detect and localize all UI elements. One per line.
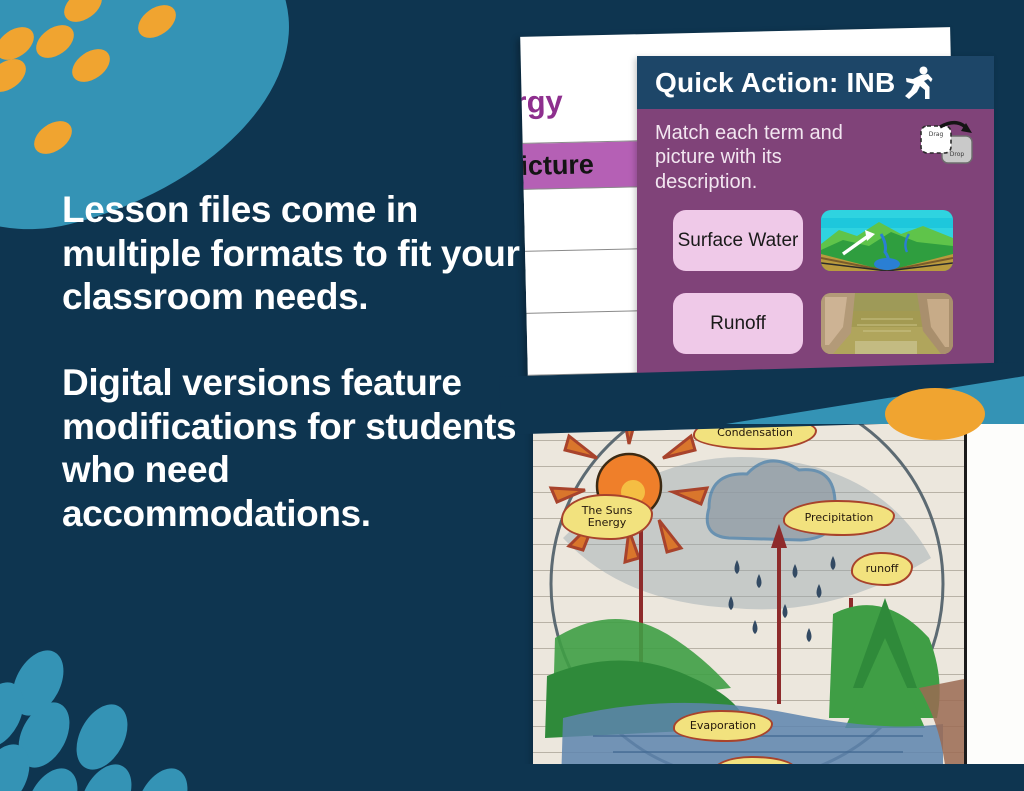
match-row: Runoff xyxy=(673,293,978,354)
quick-action-body: Match each term and picture with its des… xyxy=(637,109,994,354)
teal-dot xyxy=(66,696,138,778)
slide-copy: Lesson files come in multiple formats to… xyxy=(62,188,532,536)
navy-bottom-strip xyxy=(498,764,1024,791)
quick-action-instruction: Match each term and picture with its des… xyxy=(655,121,885,194)
notebook-photo: The Suns Energy Condensation Precipitati… xyxy=(533,388,1024,788)
water-cycle-label-evaporation: Evaporation xyxy=(673,710,773,742)
copy-paragraph-2: Digital versions feature modifications f… xyxy=(62,361,532,536)
orange-dot xyxy=(885,388,985,440)
drag-drop-icon: Drop Drag xyxy=(916,117,978,169)
quick-action-title: Quick Action: INB xyxy=(655,67,895,99)
notebook-facing-page xyxy=(967,388,1024,788)
term-pill-surface-water[interactable]: Surface Water xyxy=(673,210,803,271)
muddy-water-channel-photo-icon xyxy=(821,293,953,354)
water-cycle-label-suns-energy: The Suns Energy xyxy=(561,494,653,540)
picture-thumbnail-surface-water[interactable] xyxy=(821,210,953,271)
quick-action-header: Quick Action: INB xyxy=(637,56,994,109)
svg-text:Drop: Drop xyxy=(950,151,965,158)
svg-text:Drag: Drag xyxy=(929,131,944,138)
quick-action-card: Quick Action: INB Match each term and pi… xyxy=(637,56,994,380)
water-cycle-label-precipitation: Precipitation xyxy=(783,500,895,536)
landscape-cross-section-diagram-icon xyxy=(821,210,953,271)
match-row: Surface Water xyxy=(673,210,978,271)
term-pill-runoff[interactable]: Runoff xyxy=(673,293,803,354)
copy-paragraph-1: Lesson files come in multiple formats to… xyxy=(62,188,532,319)
teal-dot xyxy=(126,760,198,791)
water-cycle-label-runoff: runoff xyxy=(851,552,913,586)
slide-canvas: Lesson files come in multiple formats to… xyxy=(0,0,1024,791)
running-person-icon xyxy=(903,66,933,100)
picture-thumbnail-runoff[interactable] xyxy=(821,293,953,354)
